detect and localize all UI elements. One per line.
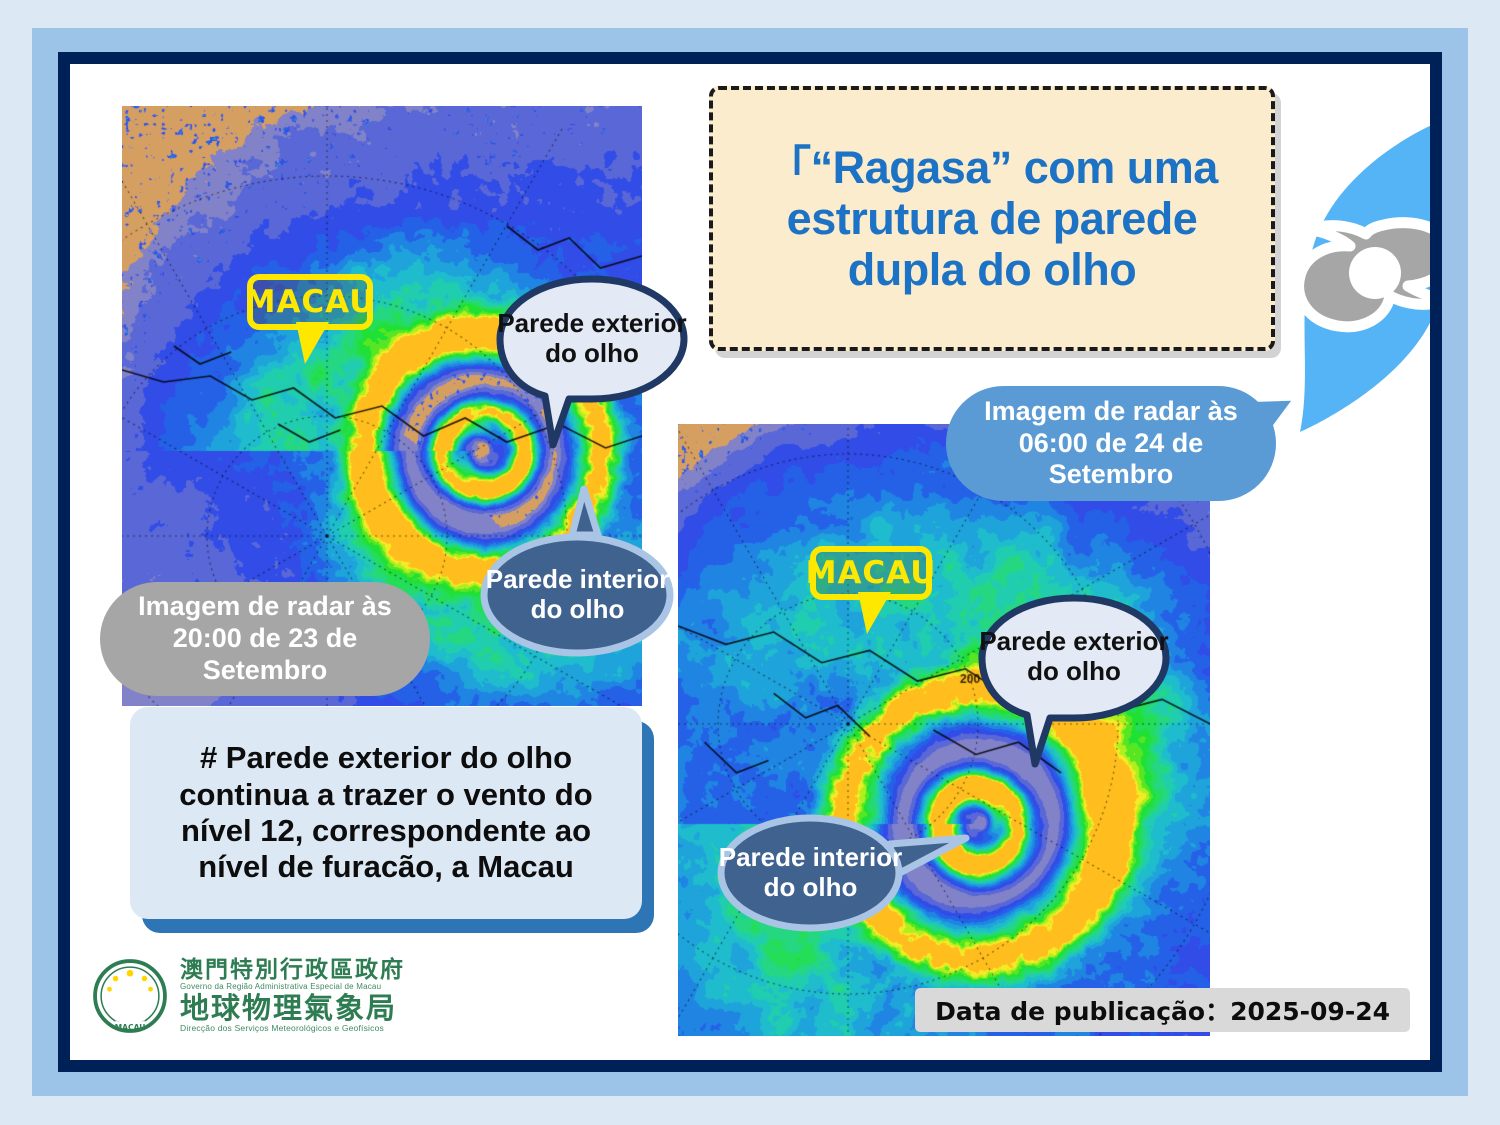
macau-tag-label-left: MACAU [245, 284, 376, 320]
macau-tag-tail-left [296, 322, 329, 364]
callout-text: Parede interior do olho [480, 565, 675, 625]
agency-logo: MACAU 澳門特別行政區政府 Governo da Região Admini… [92, 952, 422, 1040]
note-card: # Parede exterior do olho continua a tra… [130, 707, 642, 919]
macau-tag-label-right: MACAU [806, 555, 937, 591]
logo-dept-cn: 地球物理氣象局 [180, 993, 405, 1023]
note-text: # Parede exterior do olho continua a tra… [156, 740, 616, 885]
poster-canvas: MACAU MACAU Parede exterior do olho Pare… [70, 64, 1430, 1060]
publication-date-badge: Data de publicação：2025-09-24 [915, 988, 1410, 1032]
callout-text: Parede interior do olho [718, 843, 903, 903]
callout-outer-eyewall-left: Parede exterior do olho [497, 275, 687, 403]
logo-text-block: 澳門特別行政區政府 Governo da Região Administrati… [180, 958, 405, 1034]
caption-tail-right [1257, 395, 1298, 437]
caption-text: Imagem de radar às 20:00 de 23 de Setemb… [122, 591, 408, 687]
macau-emblem-icon: MACAU [92, 958, 168, 1034]
caption-text: Imagem de radar às 06:00 de 24 de Setemb… [968, 396, 1254, 492]
callout-inner-eyewall-left: Parede interior do olho [480, 535, 675, 655]
callout-outer-eyewall-right: Parede exterior do olho [978, 594, 1170, 720]
callout-text: Parede exterior do olho [497, 309, 687, 369]
callout-shape-right-outer [978, 594, 1170, 794]
caption-radar-right: Imagem de radar às 06:00 de 24 de Setemb… [946, 386, 1276, 501]
typhoon-icon [1238, 114, 1430, 444]
caption-radar-left: Imagem de radar às 20:00 de 23 de Setemb… [100, 582, 430, 696]
logo-dept-pt: Direcção dos Serviços Meteorológicos e G… [180, 1023, 405, 1034]
callout-text: Parede exterior do olho [978, 627, 1170, 687]
logo-gov-cn: 澳門特別行政區政府 [180, 958, 405, 982]
macau-city-tag-right: MACAU [810, 546, 932, 600]
emblem-macau-text: MACAU [115, 1023, 146, 1032]
callout-inner-eyewall-right: Parede interior do olho [718, 814, 903, 932]
title-card: 「“Ragasa” com uma estrutura de parede du… [709, 86, 1275, 351]
page-title: 「“Ragasa” com uma estrutura de parede du… [713, 142, 1271, 296]
macau-city-tag-left: MACAU [247, 274, 373, 330]
macau-tag-tail-right [858, 592, 891, 634]
publication-date-text: Data de publicação：2025-09-24 [935, 992, 1390, 1028]
callout-shape-left-outer [497, 275, 687, 475]
